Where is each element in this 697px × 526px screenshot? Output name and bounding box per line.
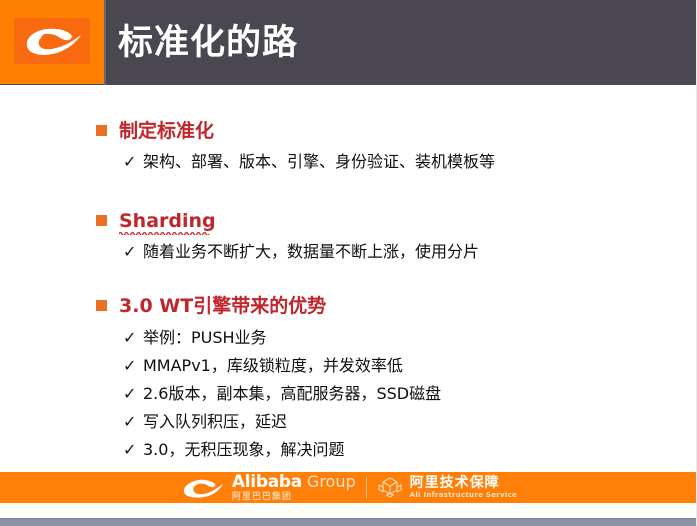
section-heading: 3.0 WT引擎带来的优势 [96, 294, 676, 320]
cube-blocks-icon [377, 476, 403, 500]
check-list: ✓ 随着业务不断扩大，数据量不断上涨，使用分片 [96, 241, 676, 262]
square-bullet-icon [96, 125, 107, 136]
check-icon: ✓ [123, 384, 143, 404]
alibaba-swirl-logo-icon [14, 18, 90, 64]
check-icon: ✓ [123, 328, 143, 348]
list-item: ✓ 写入队列积压，延迟 [96, 411, 676, 432]
header-divider [104, 0, 106, 85]
page-title: 标准化的路 [118, 12, 658, 74]
check-icon: ✓ [123, 152, 143, 172]
slide-footer: Alibaba Group 阿里巴巴集团 [0, 472, 697, 503]
check-icon: ✓ [123, 412, 143, 432]
check-list: ✓ 架构、部署、版本、引擎、身份验证、装机模板等 [96, 151, 676, 172]
list-item-label: 举例：PUSH业务 [143, 327, 267, 348]
section-wt-engine: 3.0 WT引擎带来的优势 ✓ 举例：PUSH业务 ✓ MMAPv1，库级锁粒度… [96, 294, 676, 460]
slide-header: 标准化的路 [0, 0, 697, 85]
alibaba-swirl-footer-icon [180, 476, 226, 500]
footer-unit-cn: 阿里技术保障 [410, 476, 517, 490]
window-bottom-edge [0, 518, 697, 526]
section-sharding: Sharding ✓ 随着业务不断扩大，数据量不断上涨，使用分片 [96, 209, 676, 262]
section-heading: Sharding [96, 209, 676, 235]
footer-unit-text: 阿里技术保障 Ali Infrastructure Service [410, 476, 517, 499]
square-bullet-icon [96, 300, 107, 311]
list-item: ✓ 随着业务不断扩大，数据量不断上涨，使用分片 [96, 241, 676, 262]
list-item-label: 架构、部署、版本、引擎、身份验证、装机模板等 [143, 151, 495, 172]
footer-brand-row: Alibaba Group [232, 474, 356, 491]
slide-bottom-strip [0, 503, 697, 518]
list-item-label: 写入队列积压，延迟 [143, 411, 287, 432]
section-title: 制定标准化 [119, 119, 214, 143]
footer-unit: 阿里技术保障 Ali Infrastructure Service [377, 476, 517, 500]
footer-brand-cn: 阿里巴巴集团 [232, 493, 356, 502]
section-heading: 制定标准化 [96, 119, 676, 145]
list-item-label: 3.0，无积压现象，解决问题 [143, 439, 344, 460]
header-logo-block [0, 0, 104, 84]
footer-wordmark: Alibaba Group 阿里巴巴集团 [232, 474, 356, 502]
square-bullet-icon [96, 215, 107, 226]
section-title: 3.0 WT引擎带来的优势 [119, 294, 326, 318]
list-item: ✓ MMAPv1，库级锁粒度，并发效率低 [96, 355, 676, 376]
list-item-label: MMAPv1，库级锁粒度，并发效率低 [143, 355, 403, 376]
footer-unit-en: Ali Infrastructure Service [410, 492, 517, 499]
section-standardization: 制定标准化 ✓ 架构、部署、版本、引擎、身份验证、装机模板等 [96, 119, 676, 172]
footer-brand-suffix: Group [307, 474, 356, 490]
list-item-label: 2.6版本，副本集，高配服务器，SSD磁盘 [143, 383, 441, 404]
footer-content: Alibaba Group 阿里巴巴集团 [0, 472, 697, 503]
footer-brand: Alibaba Group 阿里巴巴集团 [180, 474, 356, 502]
list-item: ✓ 2.6版本，副本集，高配服务器，SSD磁盘 [96, 383, 676, 404]
slide: 标准化的路 制定标准化 ✓ 架构、部署、版本、引擎、身份验证、装机模板等 Sha… [0, 0, 697, 526]
list-item: ✓ 举例：PUSH业务 [96, 327, 676, 348]
check-list: ✓ 举例：PUSH业务 ✓ MMAPv1，库级锁粒度，并发效率低 ✓ 2.6版本… [96, 327, 676, 460]
check-icon: ✓ [123, 356, 143, 376]
list-item: ✓ 3.0，无积压现象，解决问题 [96, 439, 676, 460]
footer-separator [366, 477, 367, 499]
list-item: ✓ 架构、部署、版本、引擎、身份验证、装机模板等 [96, 151, 676, 172]
check-icon: ✓ [123, 440, 143, 460]
section-title-wrapper: Sharding [119, 209, 216, 233]
list-item-label: 随着业务不断扩大，数据量不断上涨，使用分片 [143, 241, 479, 262]
check-icon: ✓ [123, 242, 143, 262]
section-title: Sharding [119, 210, 216, 232]
slide-body: 制定标准化 ✓ 架构、部署、版本、引擎、身份验证、装机模板等 Sharding [0, 85, 697, 472]
footer-brand-name: Alibaba [232, 474, 302, 491]
